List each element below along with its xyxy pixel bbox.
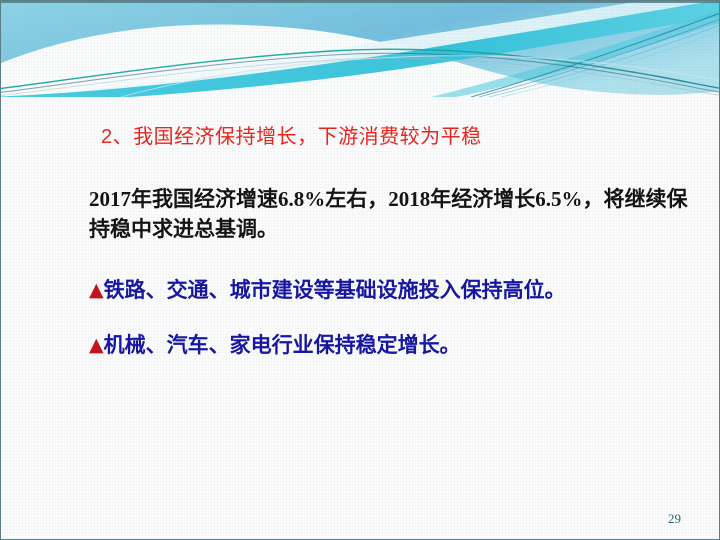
triangle-bullet-icon: ▲ — [89, 330, 104, 360]
slide-canvas: 2、我国经济保持增长，下游消费较为平稳 2017年我国经济增速6.8%左右，20… — [0, 0, 720, 540]
body-paragraph: 2017年我国经济增速6.8%左右，2018年经济增长6.5%，将继续保持稳中求… — [89, 184, 689, 244]
bullet-item-2: ▲机械、汽车、家电行业保持稳定增长。 — [89, 330, 709, 360]
slide-content: 2、我国经济保持增长，下游消费较为平稳 2017年我国经济增速6.8%左右，20… — [1, 1, 720, 540]
slide-title: 2、我国经济保持增长，下游消费较为平稳 — [101, 123, 482, 151]
bullet-item-2-label: 机械、汽车、家电行业保持稳定增长。 — [104, 333, 461, 357]
page-number: 29 — [668, 511, 681, 527]
bullet-item-1: ▲铁路、交通、城市建设等基础设施投入保持高位。 — [89, 275, 709, 305]
bullet-item-1-label: 铁路、交通、城市建设等基础设施投入保持高位。 — [104, 278, 566, 302]
triangle-bullet-icon: ▲ — [89, 275, 104, 305]
